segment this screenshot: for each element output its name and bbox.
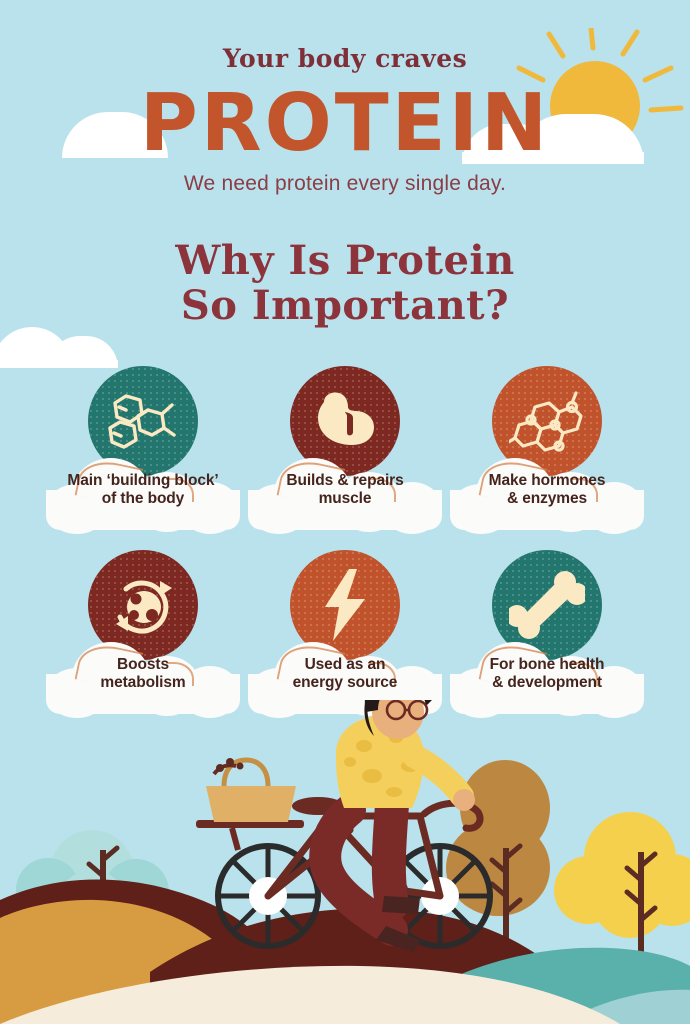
bone-icon bbox=[509, 568, 585, 642]
benefit-label-building-block: Main ‘building block’ of the body bbox=[46, 472, 240, 508]
tagline-text: We need protein every single day. bbox=[0, 172, 690, 196]
benefits-grid: Main ‘building block’ of the body bbox=[0, 366, 690, 726]
cyclist-figure bbox=[325, 700, 475, 952]
benefit-label-bone-health: For bone health & development bbox=[450, 656, 644, 692]
benefit-card-energy[interactable]: Used as an energy source bbox=[240, 550, 450, 720]
benefit-card-metabolism[interactable]: Boosts metabolism bbox=[38, 550, 248, 720]
label-line-1: Used as an bbox=[248, 656, 442, 674]
benefit-card-bone-health[interactable]: For bone health & development bbox=[442, 550, 652, 720]
label-line-2: energy source bbox=[248, 674, 442, 692]
section-heading: Why Is Protein So Important? bbox=[0, 238, 690, 328]
lightning-bolt-icon bbox=[319, 567, 371, 643]
page-title: PROTEIN bbox=[0, 84, 690, 163]
label-line-2: & development bbox=[450, 674, 644, 692]
shopping-bag-icon bbox=[206, 758, 296, 822]
label-line-1: Main ‘building block’ bbox=[46, 472, 240, 490]
metabolism-icon bbox=[106, 569, 180, 641]
label-line-1: For bone health bbox=[450, 656, 644, 674]
benefit-label-cloud-building-block: Main ‘building block’ of the body bbox=[46, 452, 240, 530]
molecule-icon bbox=[106, 386, 180, 456]
label-line-2: metabolism bbox=[46, 674, 240, 692]
benefit-label-hormones: Make hormones & enzymes bbox=[450, 472, 644, 508]
benefit-label-cloud-muscle: Builds & repairs muscle bbox=[248, 452, 442, 530]
benefit-label-energy: Used as an energy source bbox=[248, 656, 442, 692]
heading-line-1: Why Is Protein bbox=[0, 238, 690, 283]
label-line-2: muscle bbox=[248, 490, 442, 508]
cyclist-landscape-illustration bbox=[0, 700, 690, 1024]
benefit-label-cloud-hormones: Make hormones & enzymes bbox=[450, 452, 644, 530]
benefit-card-hormones[interactable]: Make hormones & enzymes bbox=[442, 366, 652, 536]
label-line-2: & enzymes bbox=[450, 490, 644, 508]
label-line-1: Builds & repairs bbox=[248, 472, 442, 490]
bicep-icon bbox=[312, 390, 378, 452]
label-line-1: Boosts bbox=[46, 656, 240, 674]
kicker-text: Your body craves bbox=[0, 44, 690, 73]
benefit-label-muscle: Builds & repairs muscle bbox=[248, 472, 442, 508]
label-line-2: of the body bbox=[46, 490, 240, 508]
protein-infographic-poster: Your body craves PROTEIN We need protein… bbox=[0, 0, 690, 1024]
hormone-icon bbox=[509, 385, 585, 457]
benefit-card-muscle[interactable]: Builds & repairs muscle bbox=[240, 366, 450, 536]
label-line-1: Make hormones bbox=[450, 472, 644, 490]
kicker-label: Your body craves bbox=[223, 44, 467, 73]
benefit-card-building-block[interactable]: Main ‘building block’ of the body bbox=[38, 366, 248, 536]
heading-line-2: So Important? bbox=[0, 283, 690, 328]
benefit-label-metabolism: Boosts metabolism bbox=[46, 656, 240, 692]
